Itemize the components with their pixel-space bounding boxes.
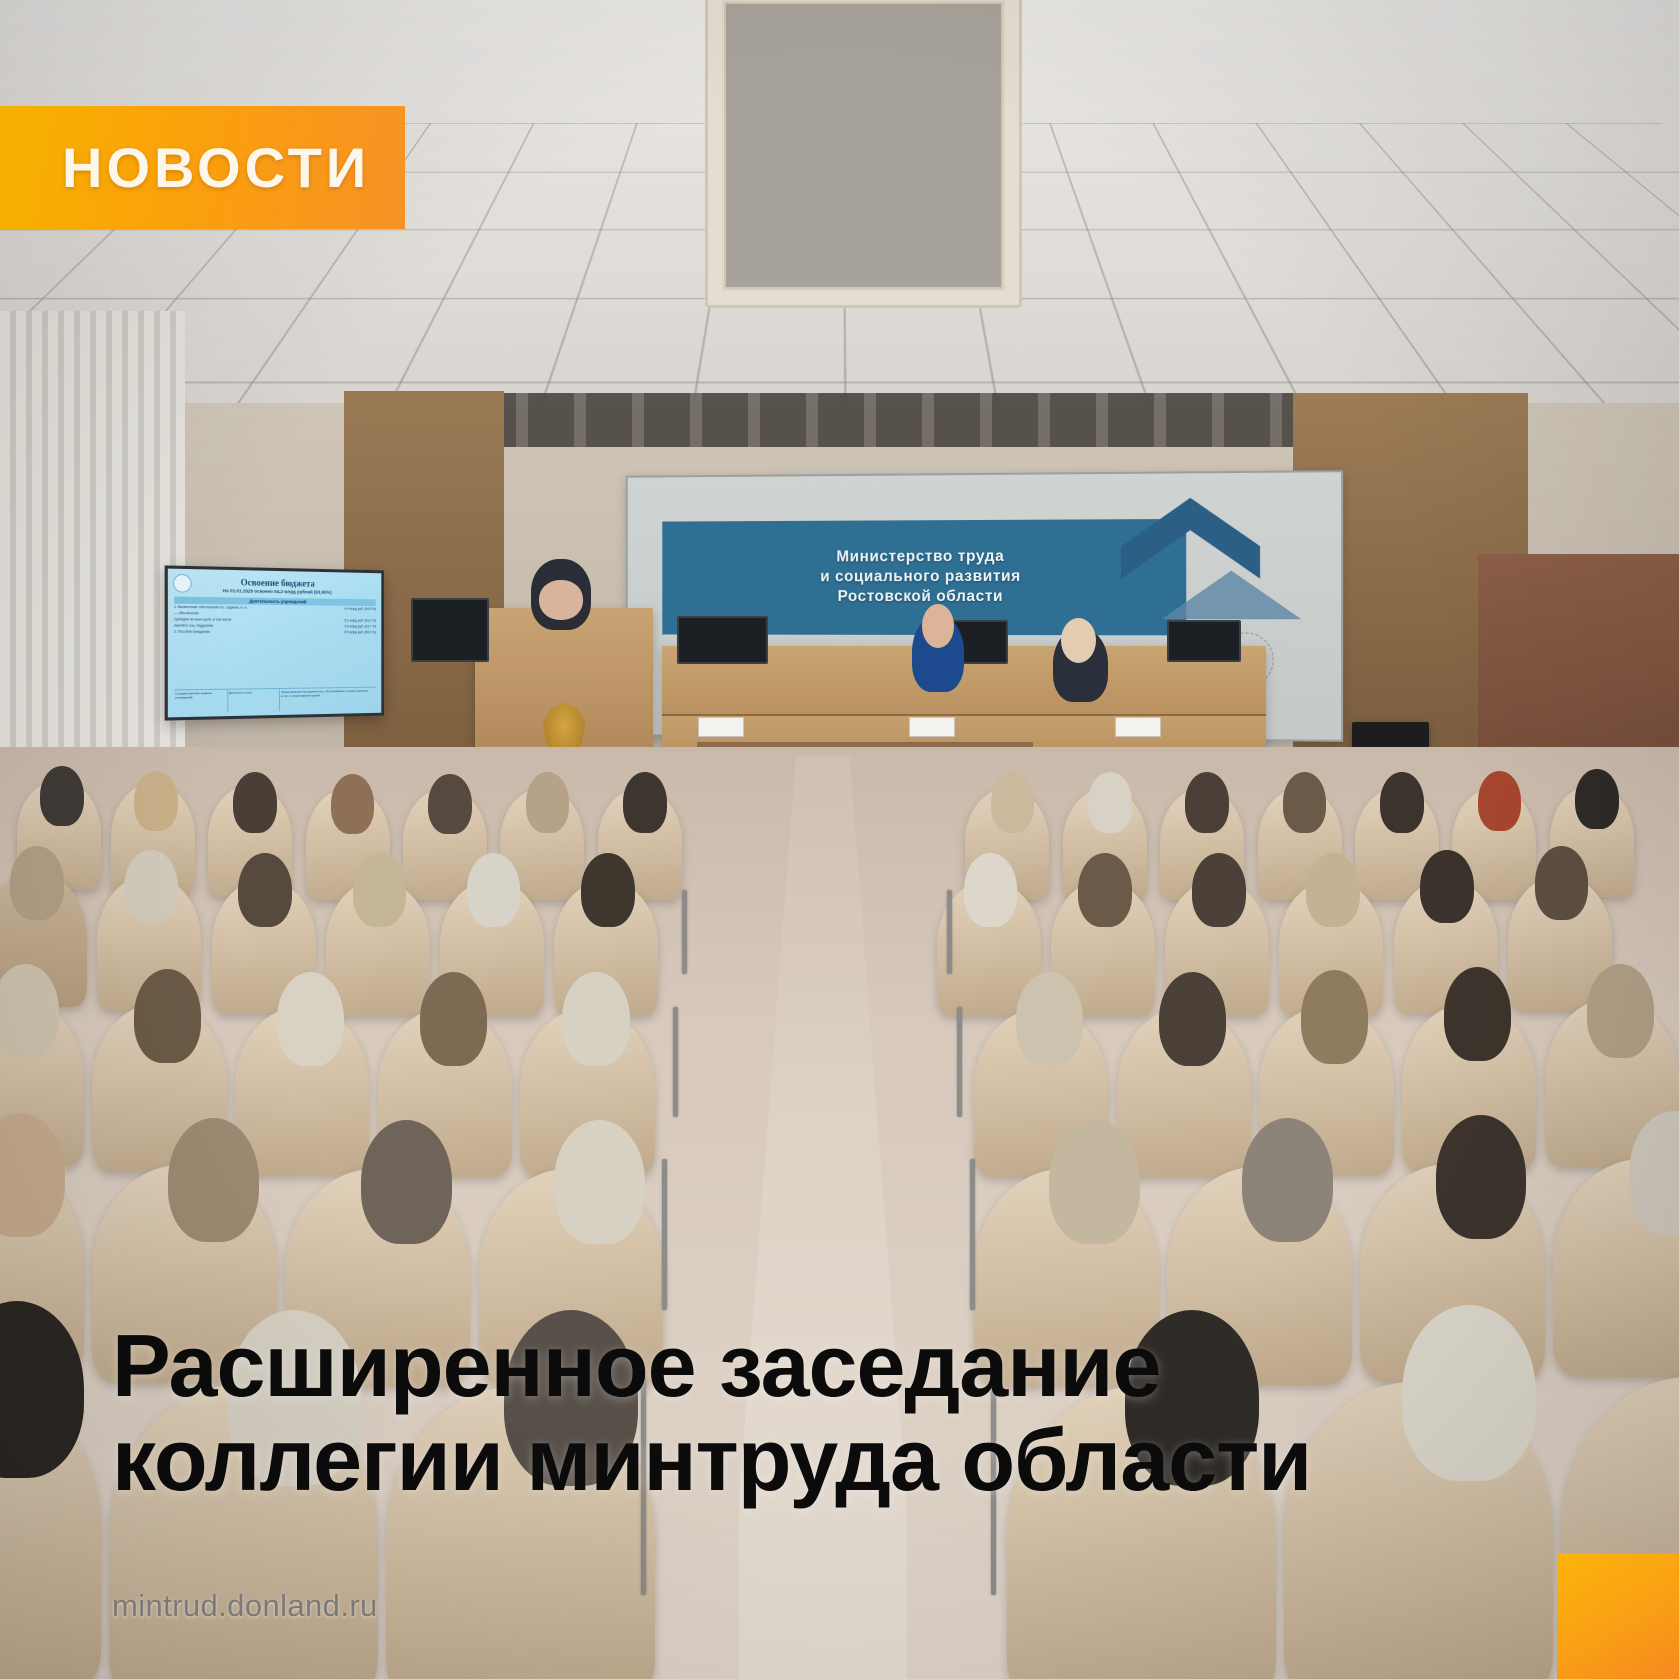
attendee-head <box>1192 853 1246 927</box>
slide-table-cell: Модернизация учреждений соц. обслуживани… <box>280 688 376 711</box>
slide-table-cell: Государственное задание учреждений <box>174 690 228 713</box>
slide-row: выплаты соц. поддержки 4,9 млрд руб. (93… <box>174 624 376 629</box>
slide-row-label: — обеспечение <box>174 612 199 616</box>
wall-beam-row <box>470 393 1377 447</box>
slide-row-label: 1. Выполнение обеспечения гос. задания, … <box>174 605 248 609</box>
seat-leg <box>662 1159 667 1310</box>
attendee-head <box>277 972 344 1066</box>
attendee-head <box>361 1120 452 1244</box>
nameplate-text <box>699 722 743 726</box>
attendee-head <box>10 846 64 920</box>
attendee-head <box>526 772 570 832</box>
headline-line-2: коллегии минтруда области <box>112 1413 1569 1507</box>
window-blinds <box>0 311 185 815</box>
attendee-head <box>1420 850 1474 924</box>
attendee-head <box>1159 972 1226 1066</box>
attendee-head <box>964 853 1018 927</box>
slide-logo-icon <box>173 573 192 592</box>
presentation-screen: Освоение бюджета На 01.01.2026 освоено 5… <box>165 565 385 721</box>
attendee-head <box>420 972 487 1066</box>
seat-leg <box>673 1007 678 1116</box>
attendee-head <box>1436 1115 1527 1239</box>
attendee-head <box>134 771 178 831</box>
slide-row: субсидии на иные цели, в том числе: 5,1 … <box>174 618 376 623</box>
attendee-head <box>1078 853 1132 927</box>
news-badge: НОВОСТИ <box>0 106 405 229</box>
ceiling-ac-unit-back <box>705 0 1022 308</box>
headline: Расширенное заседание коллегии минтруда … <box>112 1319 1569 1507</box>
news-card: Министерство труда и социального развити… <box>0 0 1679 1679</box>
nameplate-right <box>1115 717 1161 737</box>
attendee-head <box>1535 846 1589 920</box>
presidium-member-center-head <box>922 604 954 648</box>
slide-row-label: 2. Пособия гражданам <box>174 630 210 634</box>
attendee-head <box>0 964 59 1058</box>
chevron-graphic <box>1120 489 1325 628</box>
presidium-monitor-left <box>677 616 768 664</box>
attendee-head <box>233 772 277 832</box>
slide-row-label: субсидии на иные цели, в том числе: <box>174 618 232 622</box>
presidium-monitor-right <box>1167 620 1242 663</box>
slide-row-value: 6,9 млрд руб. (98,9 %) <box>345 631 377 635</box>
attendee-head <box>991 772 1035 832</box>
slide-row: 1. Выполнение обеспечения гос. задания, … <box>174 605 376 611</box>
site-watermark: mintrud.donland.ru <box>112 1588 378 1624</box>
attendee-head <box>1478 771 1522 831</box>
slide-table-cell: Достигнуто: рост <box>228 689 280 712</box>
attendee-head <box>1088 772 1132 832</box>
nameplate-text <box>1116 722 1160 726</box>
attendee-head <box>562 972 629 1066</box>
attendee-head <box>124 850 178 924</box>
attendee-head <box>1575 769 1619 829</box>
attendee-head <box>1587 964 1654 1058</box>
attendee-head <box>428 774 472 834</box>
podium-monitor <box>411 598 489 662</box>
nameplate-left <box>698 717 744 737</box>
corner-accent <box>1557 1553 1679 1679</box>
standing-speaker <box>531 559 591 630</box>
attendee-head <box>467 853 521 927</box>
attendee-head <box>1049 1120 1140 1244</box>
attendee-head <box>1301 970 1368 1064</box>
attendee-head <box>1444 967 1511 1061</box>
attendee-head <box>581 853 635 927</box>
attendee-head <box>238 853 292 927</box>
headline-line-1: Расширенное заседание <box>112 1316 1160 1415</box>
nameplate-text <box>910 722 954 726</box>
news-badge-label: НОВОСТИ <box>62 135 370 200</box>
slide-row-value: 4,4 млрд руб. (94,8 %) <box>345 607 377 611</box>
nameplate-center <box>909 717 955 737</box>
attendee-head <box>1283 772 1327 832</box>
attendee-head <box>168 1118 259 1242</box>
banner-title: Министерство труда и социального развити… <box>820 548 1021 608</box>
attendee-head <box>1016 972 1083 1066</box>
attendee-head <box>331 774 375 834</box>
slide-row-value: 4,9 млрд руб. (93,7 %) <box>345 625 377 629</box>
slide-row-value: 5,1 млрд руб. (93,2 %) <box>345 619 377 623</box>
seat-leg <box>682 890 687 974</box>
seat-leg <box>947 890 952 974</box>
attendee-head <box>623 772 667 832</box>
slide-row: — обеспечение <box>174 612 376 617</box>
attendee-head <box>554 1120 645 1244</box>
seat-leg <box>970 1159 975 1310</box>
attendee-head <box>1242 1118 1333 1242</box>
slide-table: Государственное задание учреждений Дости… <box>174 687 376 713</box>
attendee-head <box>134 969 201 1063</box>
slide-row-label: выплаты соц. поддержки <box>174 624 213 628</box>
attendee-head <box>1306 853 1360 927</box>
seat-leg <box>957 1007 962 1116</box>
attendee-head <box>353 853 407 927</box>
slide-section-header: Деятельность учреждений <box>174 596 376 606</box>
attendee-head <box>1380 772 1424 832</box>
attendee-head <box>40 766 84 826</box>
slide-row: 2. Пособия гражданам 6,9 млрд руб. (98,9… <box>174 630 376 634</box>
attendee-head <box>1185 772 1229 832</box>
